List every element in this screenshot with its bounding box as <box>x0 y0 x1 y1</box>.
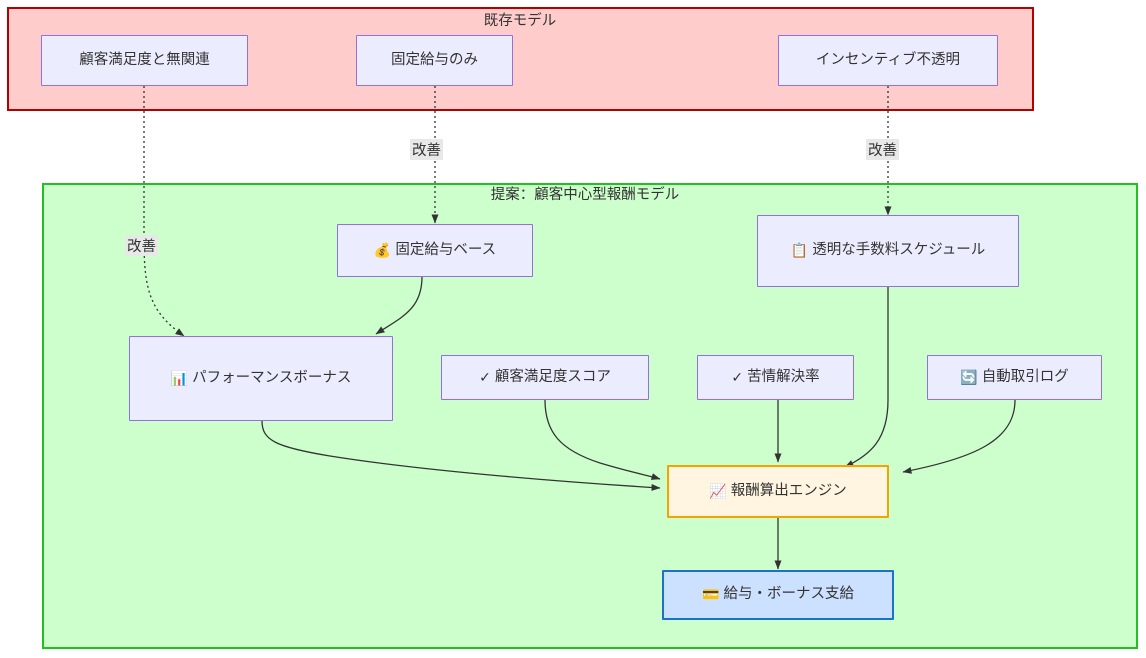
node-performance-bonus[interactable]: 📊 パフォーマンスボーナス <box>129 336 393 421</box>
node-fixed-salary-base[interactable]: 💰 固定給与ベース <box>337 224 533 277</box>
node-label: パフォーマンスボーナス <box>192 368 351 390</box>
edge-label-improve-right: 改善 <box>866 139 899 160</box>
credit-card-icon: 💳 <box>702 588 719 602</box>
cluster-legacy-title: 既存モデル <box>395 11 645 32</box>
clipboard-icon: 📋 <box>791 244 808 258</box>
edge-label-improve-left: 改善 <box>125 235 158 256</box>
node-automatic-trade-log[interactable]: 🔄 自動取引ログ <box>927 355 1102 400</box>
node-label: 透明な手数料スケジュール <box>812 240 985 262</box>
node-label: 固定給与ベース <box>395 240 496 262</box>
node-label: 苦情解決率 <box>747 367 820 389</box>
node-reward-calculation-engine[interactable]: 📈 報酬算出エンジン <box>667 465 889 518</box>
node-label: 自動取引ログ <box>982 367 1069 389</box>
chart-increasing-icon: 📈 <box>709 485 726 499</box>
node-label: 固定給与のみ <box>391 50 478 72</box>
check-icon: ✓ <box>479 371 491 385</box>
cluster-proposed-title: 提案：顧客中心型報酬モデル <box>490 185 680 206</box>
node-label: インセンティブ不透明 <box>816 50 960 72</box>
node-fixed-salary-only[interactable]: 固定給与のみ <box>356 35 513 86</box>
node-label: 顧客満足度スコア <box>495 367 611 389</box>
edge-label-improve-center: 改善 <box>410 139 443 160</box>
refresh-icon: 🔄 <box>960 371 977 385</box>
node-transparent-fee-schedule[interactable]: 📋 透明な手数料スケジュール <box>757 215 1019 287</box>
node-customer-satisfaction-score[interactable]: ✓ 顧客満足度スコア <box>441 355 649 400</box>
bar-chart-icon: 📊 <box>171 372 188 386</box>
node-unrelated-to-satisfaction[interactable]: 顧客満足度と無関連 <box>41 35 248 86</box>
node-label: 報酬算出エンジン <box>731 481 847 503</box>
check-icon: ✓ <box>731 371 743 385</box>
node-complaint-resolution-rate[interactable]: ✓ 苦情解決率 <box>697 355 854 400</box>
node-label: 顧客満足度と無関連 <box>79 50 210 72</box>
node-label: 給与・ボーナス支給 <box>723 584 854 606</box>
node-opaque-incentive[interactable]: インセンティブ不透明 <box>778 35 998 86</box>
node-salary-bonus-payout[interactable]: 💳 給与・ボーナス支給 <box>662 570 894 620</box>
diagram-canvas: 既存モデル 提案：顧客中心型報酬モデル 改 <box>0 0 1146 658</box>
money-bag-icon: 💰 <box>374 244 391 258</box>
